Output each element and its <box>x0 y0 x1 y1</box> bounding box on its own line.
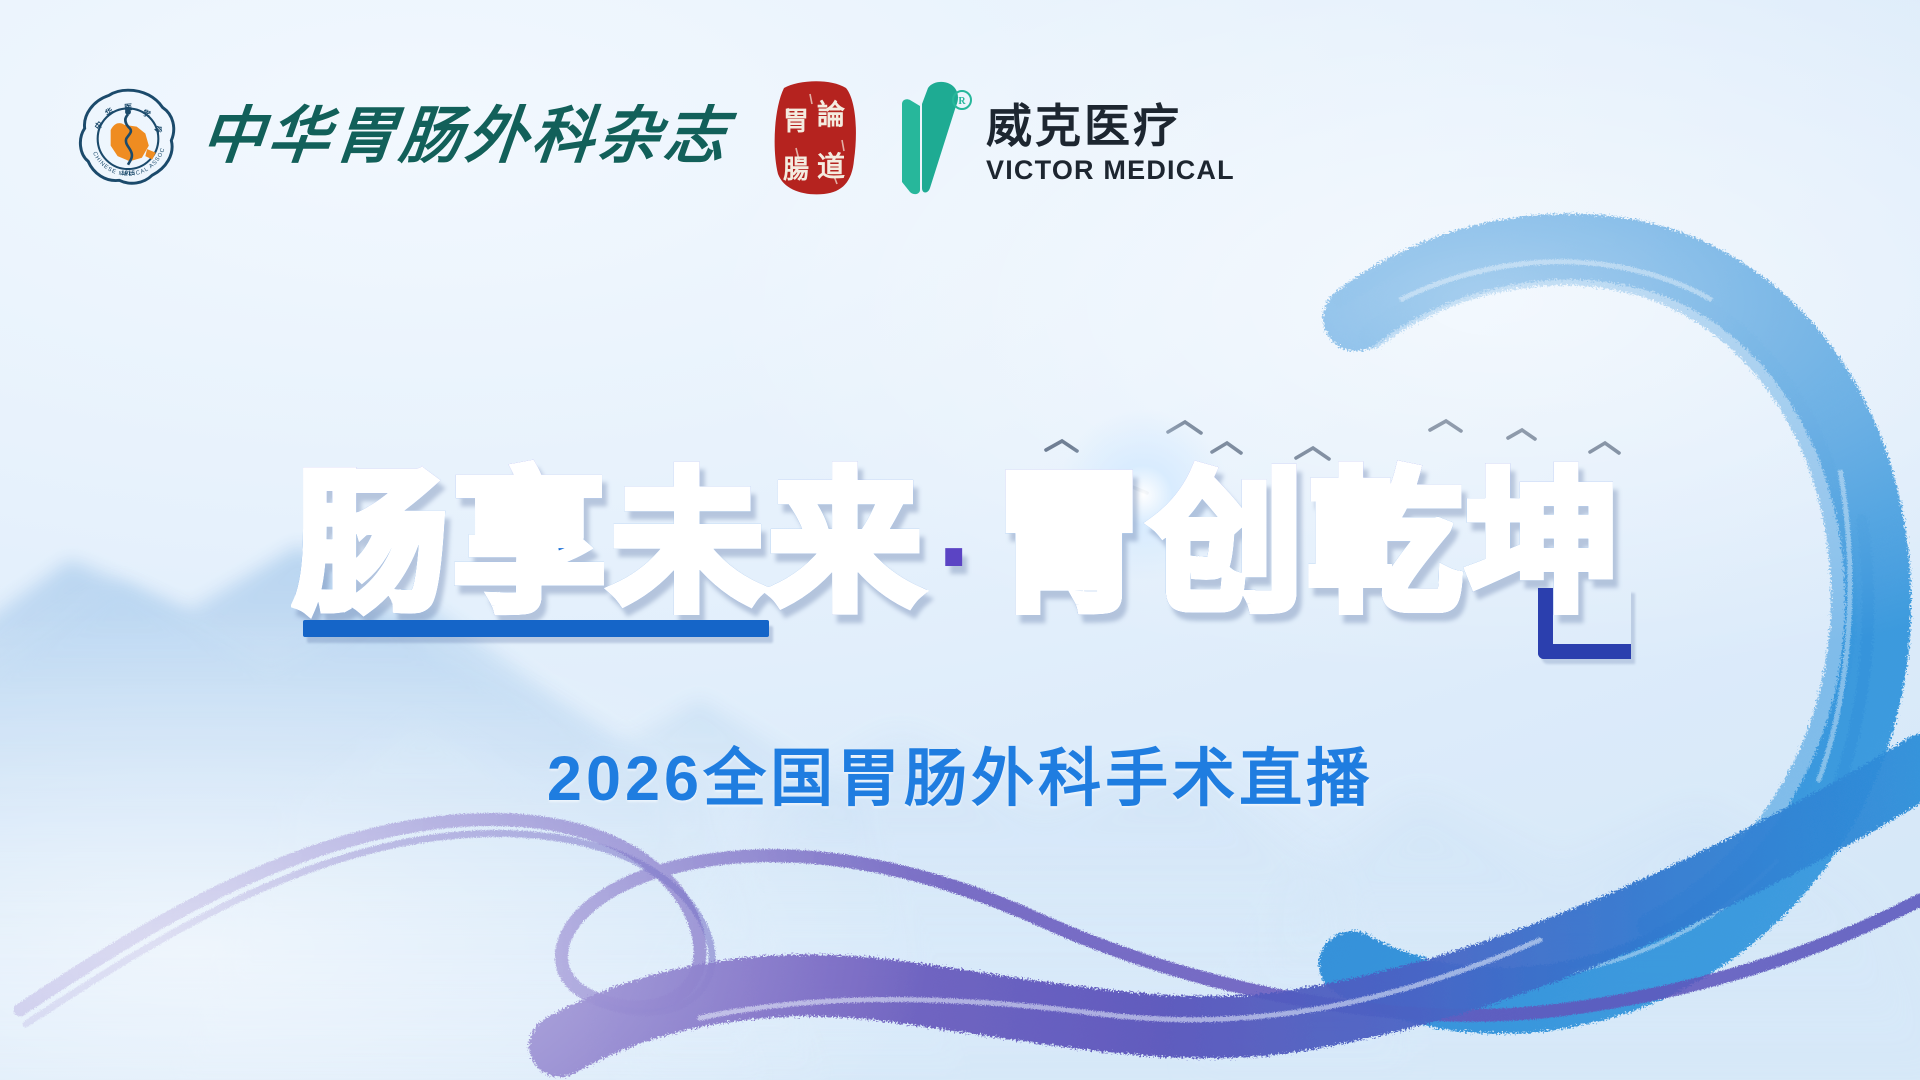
svg-text:道: 道 <box>817 150 845 183</box>
main-title-underline <box>303 620 769 637</box>
victor-v-mark-icon: R <box>898 78 972 196</box>
logo-bar: 中 华 医 学 会 1915 CHINESE MEDICAL ASSOCIATI… <box>76 72 1235 202</box>
victor-medical-en-name: VICTOR MEDICAL <box>986 154 1235 186</box>
svg-text:腸: 腸 <box>783 155 809 184</box>
main-title-part1: 肠享未来 <box>295 459 927 629</box>
main-title-separator: · <box>927 489 993 623</box>
svg-text:医: 医 <box>124 103 133 113</box>
chinese-medical-association-logo: 中 华 医 学 会 1915 CHINESE MEDICAL ASSOCIATI… <box>76 85 180 189</box>
svg-text:R: R <box>958 96 966 107</box>
victor-medical-logo: R 威克医疗 VICTOR MEDICAL <box>898 78 1235 196</box>
svg-text:胃: 胃 <box>783 107 809 136</box>
main-title-hook-stroke <box>1538 588 1631 659</box>
svg-text:华: 华 <box>103 105 115 118</box>
main-title: 肠享未来·胃创乾坤 <box>295 468 1625 620</box>
poster-canvas: 中 华 医 学 会 1915 CHINESE MEDICAL ASSOCIATI… <box>0 0 1920 1080</box>
gastro-forum-seal: 胃 論 腸 道 <box>772 78 858 196</box>
subtitle: 2026全国胃肠外科手术直播 <box>0 728 1920 819</box>
journal-title: 中华胃肠外科杂志 <box>199 106 734 168</box>
main-title-part2: 胃创乾坤 <box>993 459 1625 629</box>
main-title-block: 肠享未来·胃创乾坤 <box>0 468 1920 620</box>
svg-text:論: 論 <box>817 98 846 131</box>
victor-medical-cn-name: 威克医疗 <box>986 102 1235 150</box>
